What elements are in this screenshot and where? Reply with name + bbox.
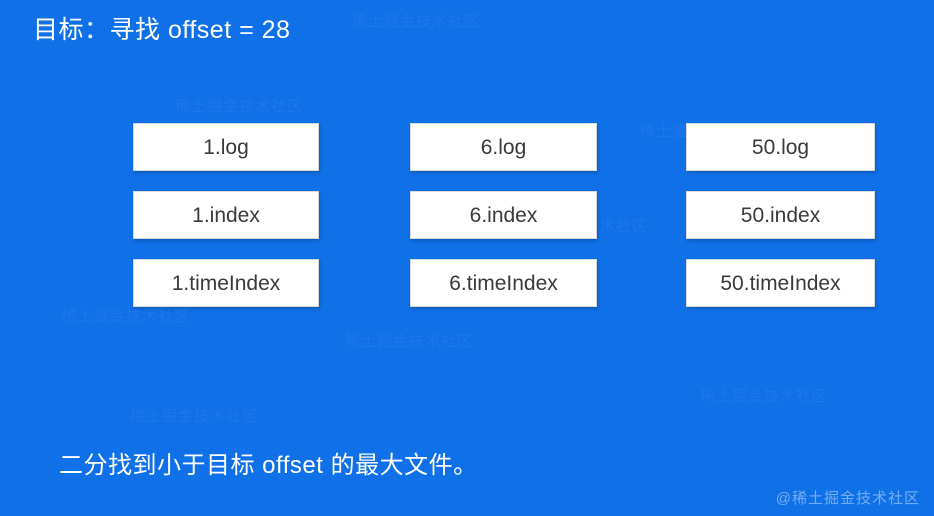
file-box[interactable]: 50.timeIndex (686, 259, 875, 307)
file-name-label: 1.index (192, 205, 260, 226)
file-name-label: 6.log (481, 137, 527, 158)
file-name-label: 6.index (470, 205, 538, 226)
file-name-label: 50.log (752, 137, 809, 158)
segment-column-1: 1.log 1.index 1.timeIndex (133, 123, 319, 307)
file-box[interactable]: 1.index (133, 191, 319, 239)
corner-watermark: @稀土掘金技术社区 (776, 487, 920, 508)
file-box[interactable]: 6.timeIndex (410, 259, 597, 307)
file-name-label: 6.timeIndex (449, 273, 558, 294)
segment-grid: 1.log 1.index 1.timeIndex 6.log 6.index … (0, 0, 934, 516)
file-name-label: 50.timeIndex (720, 273, 840, 294)
file-box[interactable]: 50.log (686, 123, 875, 171)
file-box[interactable]: 1.log (133, 123, 319, 171)
file-name-label: 1.timeIndex (172, 273, 281, 294)
file-name-label: 50.index (741, 205, 820, 226)
segment-column-6: 6.log 6.index 6.timeIndex (410, 123, 597, 307)
file-box[interactable]: 6.log (410, 123, 597, 171)
slide-caption: 二分找到小于目标 offset 的最大文件。 (59, 450, 478, 482)
file-name-label: 1.log (203, 137, 249, 158)
file-box[interactable]: 1.timeIndex (133, 259, 319, 307)
file-box[interactable]: 6.index (410, 191, 597, 239)
slide-canvas: 稀土掘金技术社区 稀土掘金技术社区 稀土掘金技术社区 稀土掘金技术社区 稀土掘金… (0, 0, 934, 516)
segment-column-50: 50.log 50.index 50.timeIndex (686, 123, 875, 307)
file-box[interactable]: 50.index (686, 191, 875, 239)
